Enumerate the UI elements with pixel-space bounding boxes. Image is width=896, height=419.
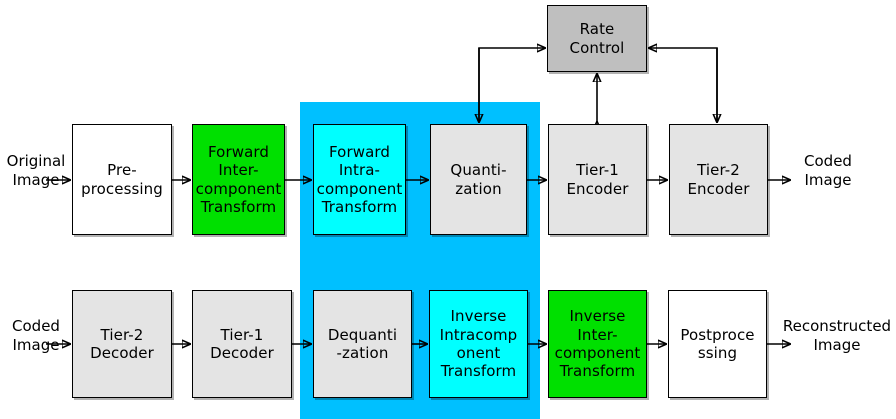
block-label-tier-2-decoder: Tier-2 Decoder: [88, 326, 156, 363]
block-label-inverse-inter-component: Inverse Inter- component Transform: [553, 307, 643, 380]
block-label-tier-2-encoder: Tier-2 Encoder: [685, 161, 751, 198]
block-tier-1-decoder[interactable]: Tier-1 Decoder: [192, 290, 292, 398]
block-pre-processing[interactable]: Pre- processing: [72, 124, 172, 235]
coded-image-out-label: Coded Image: [790, 152, 866, 190]
block-forward-intra-component[interactable]: Forward Intra- component Transform: [313, 124, 406, 235]
block-forward-inter-component[interactable]: Forward Inter- component Transform: [192, 124, 285, 235]
block-postprocessing[interactable]: Postproce ssing: [668, 290, 767, 398]
block-inverse-inter-component[interactable]: Inverse Inter- component Transform: [548, 290, 647, 398]
block-label-dequantization: Dequanti -zation: [326, 326, 399, 363]
block-rate-control[interactable]: Rate Control: [547, 5, 647, 72]
block-inverse-intra-component[interactable]: Inverse Intracomp onent Transform: [429, 290, 528, 398]
original-image-label: Original Image: [2, 152, 70, 190]
reconstructed-image-label: Reconstructed Image: [778, 317, 896, 355]
block-label-tier-1-decoder: Tier-1 Decoder: [208, 326, 276, 363]
codec-block-diagram: Pre- processingForward Inter- component …: [0, 0, 896, 419]
block-tier-1-encoder[interactable]: Tier-1 Encoder: [548, 124, 647, 235]
block-tier-2-encoder[interactable]: Tier-2 Encoder: [669, 124, 768, 235]
block-label-quantization: Quanti- zation: [448, 161, 508, 198]
block-dequantization[interactable]: Dequanti -zation: [313, 290, 412, 398]
block-label-forward-intra-component: Forward Intra- component Transform: [315, 143, 405, 216]
block-label-forward-inter-component: Forward Inter- component Transform: [194, 143, 284, 216]
block-quantization[interactable]: Quanti- zation: [430, 124, 527, 235]
wire-rate-control-right-in: [649, 48, 717, 122]
block-label-pre-processing: Pre- processing: [79, 161, 165, 198]
block-label-tier-1-encoder: Tier-1 Encoder: [564, 161, 630, 198]
block-label-rate-control: Rate Control: [568, 20, 627, 57]
block-tier-2-decoder[interactable]: Tier-2 Decoder: [72, 290, 172, 398]
coded-image-in-label: Coded Image: [2, 317, 70, 355]
block-label-postprocessing: Postproce ssing: [678, 326, 756, 363]
wire-rate-control-left-in: [479, 48, 545, 122]
block-label-inverse-intra-component: Inverse Intracomp onent Transform: [438, 307, 520, 380]
